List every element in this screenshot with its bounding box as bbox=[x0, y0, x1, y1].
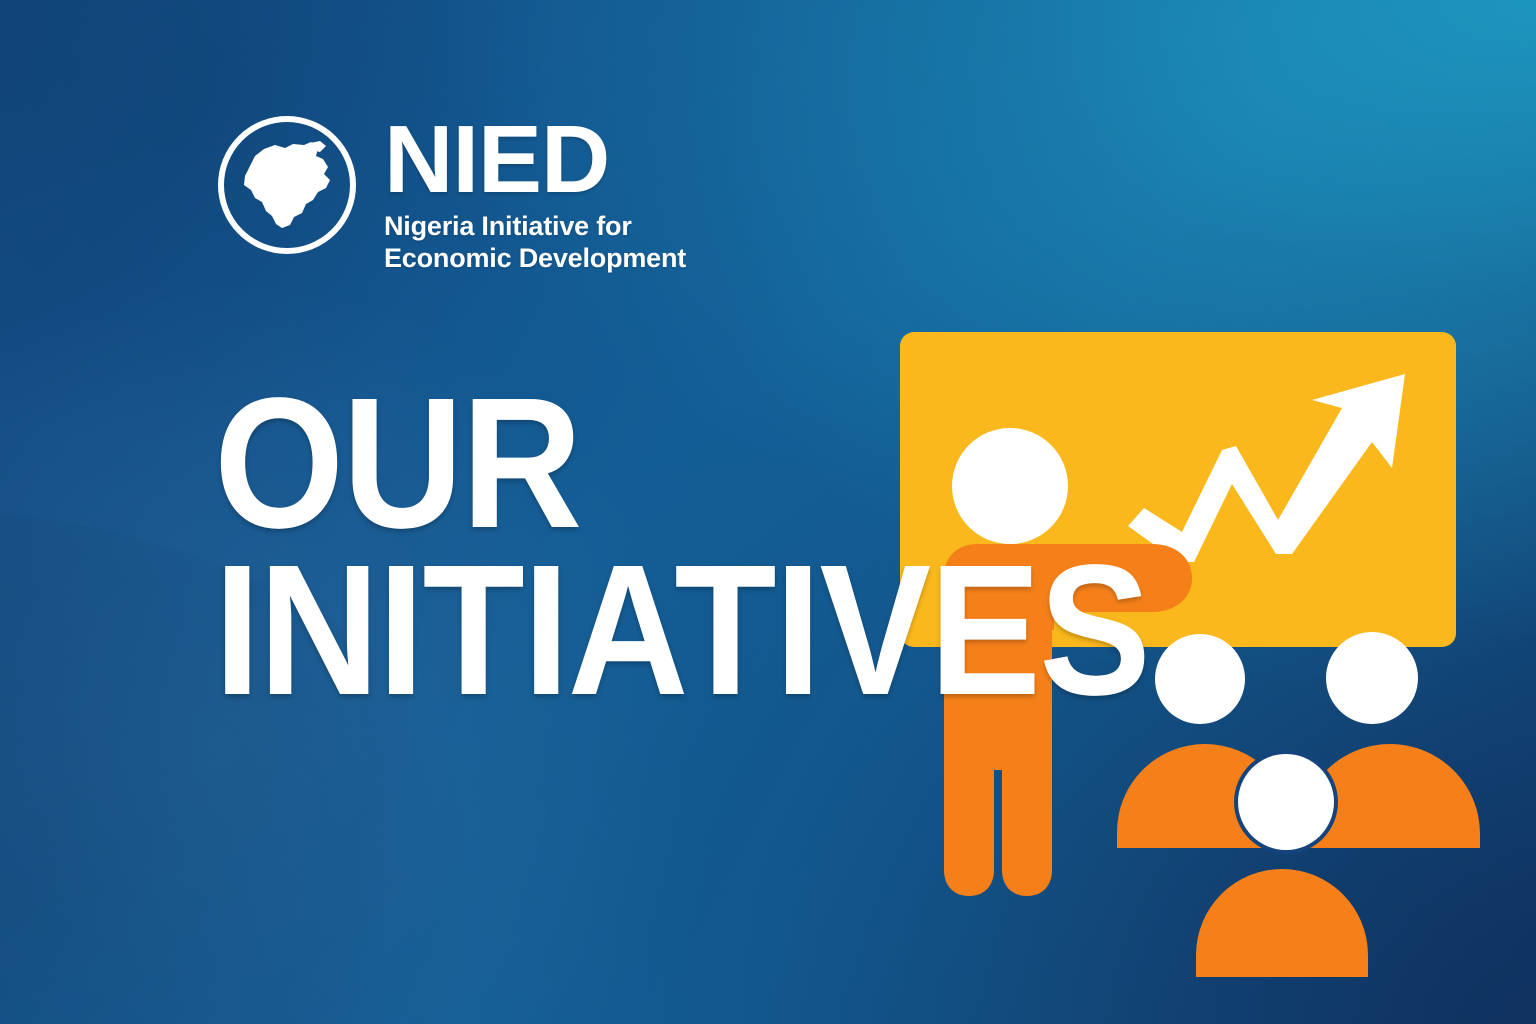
audience-head-center bbox=[1238, 754, 1334, 850]
page-title: OUR INITIATIVES bbox=[214, 380, 1253, 715]
page-title-line2: INITIATIVES bbox=[214, 547, 1149, 714]
audience-head-right bbox=[1326, 632, 1418, 724]
audience-body-center bbox=[1196, 869, 1368, 977]
poster-canvas: NIED Nigeria Initiative for Economic Dev… bbox=[0, 0, 1536, 1024]
page-title-line1: OUR bbox=[214, 380, 1149, 547]
